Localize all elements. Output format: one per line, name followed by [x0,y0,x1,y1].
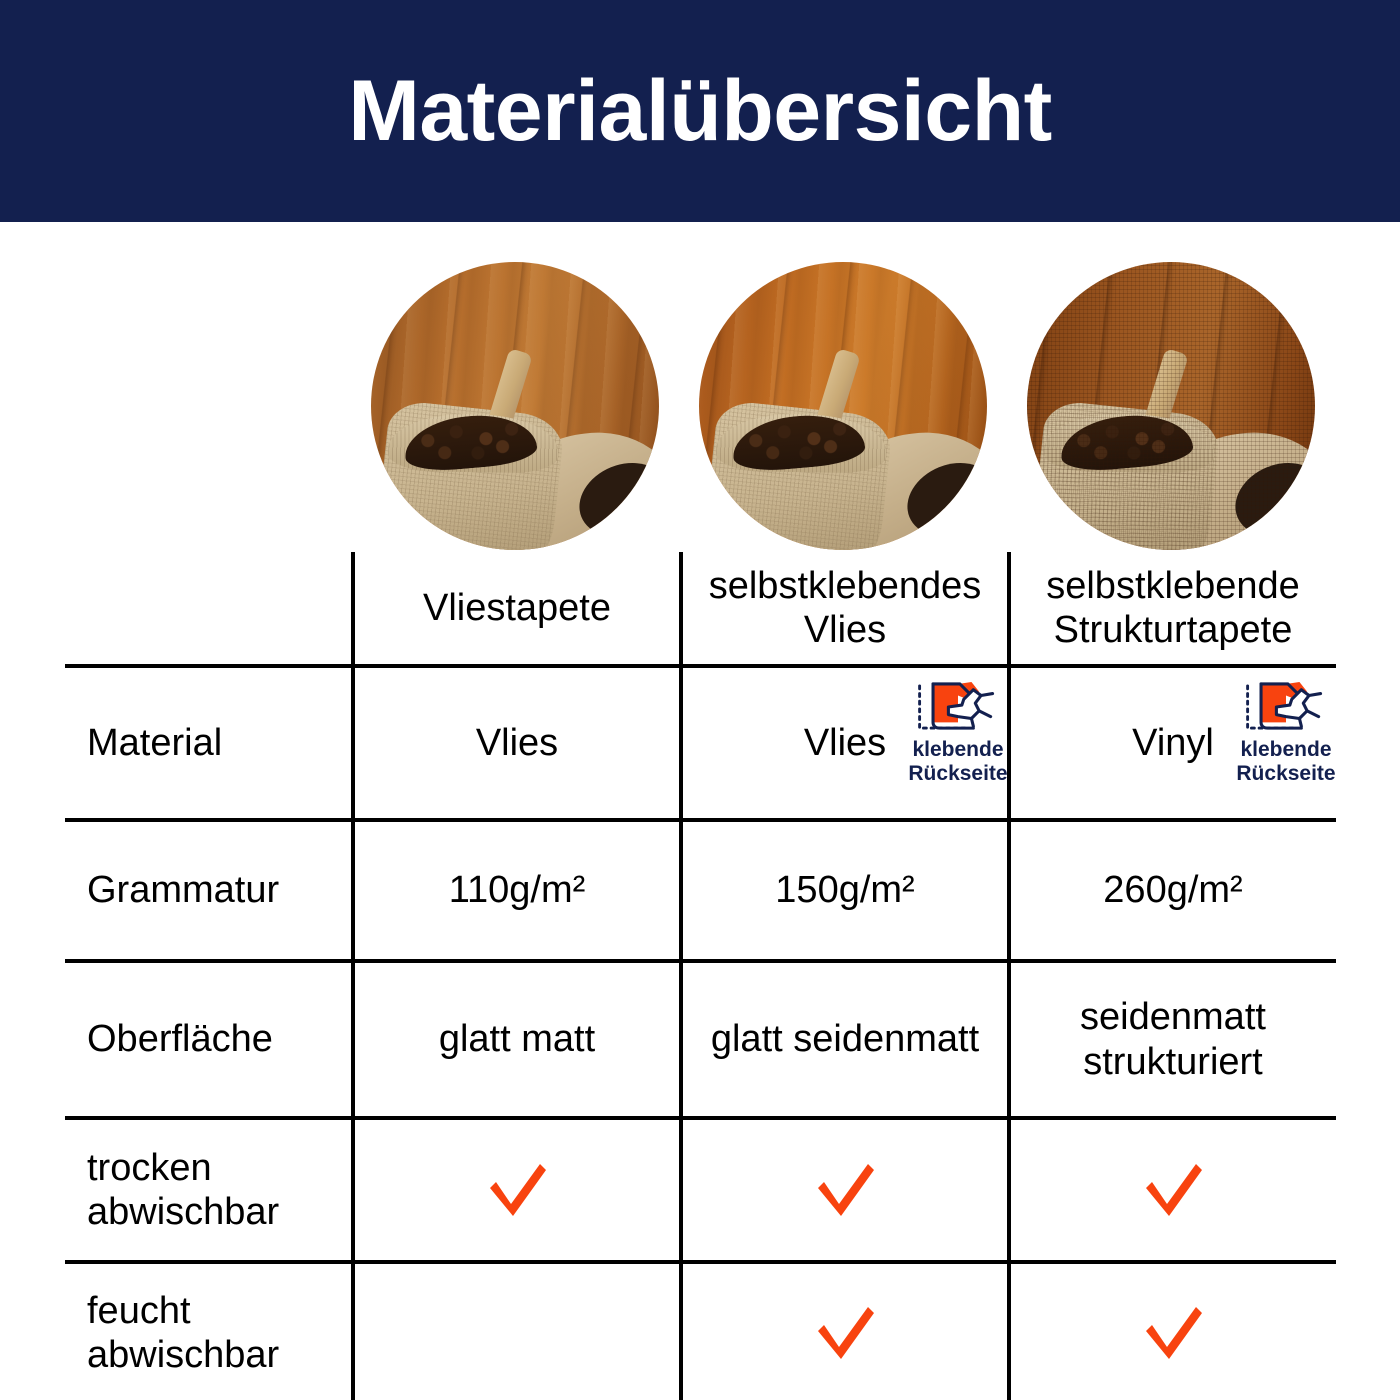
cell-trocken-3 [1007,1120,1335,1260]
sample-cell-1 [351,262,679,552]
material-overview-page: Materialübersicht [0,0,1400,1400]
burlap-sack-icon [372,399,565,550]
sample-vliestapete [371,262,659,550]
burlap-sack-icon [700,399,893,550]
peel-corner-hand-icon [910,678,1006,736]
peel-corner-hand-icon [1238,678,1334,736]
table-row: Oberfläche glatt matt glatt seidenmatt s… [65,959,1336,1116]
column-header-2: selbstklebendes Vlies [679,552,1007,664]
cell-oberflaeche-2: glatt seidenmatt [679,963,1007,1116]
coffee-beans-icon [730,410,866,473]
column-header-1-label: Vliestapete [423,586,611,630]
material-comparison-table: Vliestapete selbstklebendes Vlies selbst… [65,552,1336,1382]
cell-trocken-1 [351,1120,679,1260]
check-icon [1142,1162,1204,1218]
adhesive-backing-badge-text: klebende Rückseite [1236,738,1335,785]
cell-material-3: Vinyl [1007,668,1335,818]
sample-cell-2 [679,262,1007,552]
cell-oberflaeche-3-value: seidenmatt strukturiert [1019,995,1327,1083]
badge-line-1: klebende [912,738,1003,761]
check-icon [486,1162,548,1218]
cell-oberflaeche-1-value: glatt matt [439,1017,595,1061]
cell-grammatur-1: 110g/m² [351,822,679,959]
sample-strukturtapete [1027,262,1315,550]
table-corner-cell [65,552,351,664]
cell-grammatur-2-value: 150g/m² [775,868,914,912]
table-header-row: Vliestapete selbstklebendes Vlies selbst… [65,552,1336,664]
coffee-beans-icon [402,410,538,473]
adhesive-backing-badge-text: klebende Rückseite [908,738,1007,785]
cell-trocken-2 [679,1120,1007,1260]
cell-material-1: Vlies [351,668,679,818]
page-title: Materialübersicht [348,68,1052,154]
row-label-oberflaeche: Oberfläche [65,963,351,1116]
sack-cuff-icon [388,413,559,474]
badge-line-2: Rückseite [908,762,1007,785]
cell-grammatur-3-value: 260g/m² [1103,868,1242,912]
cell-feucht-3 [1007,1264,1335,1400]
row-label-grammatur: Grammatur [65,822,351,959]
table-row: Material Vlies Vlies [65,664,1336,818]
cell-material-3-value: Vinyl [1132,721,1214,765]
table-row: Grammatur 110g/m² 150g/m² 260g/m² [65,818,1336,959]
badge-line-2: Rückseite [1236,762,1335,785]
column-header-3: selbstklebende Strukturtapete [1007,552,1335,664]
cell-oberflaeche-2-value: glatt seidenmatt [711,1017,979,1061]
cell-material-2: Vlies [679,668,1007,818]
page-header: Materialübersicht [0,0,1400,222]
column-header-2-label: selbstklebendes Vlies [691,564,999,652]
cell-feucht-2 [679,1264,1007,1400]
sack-cuff-icon [716,413,887,474]
cell-grammatur-2: 150g/m² [679,822,1007,959]
cell-material-1-value: Vlies [476,721,558,765]
cell-oberflaeche-3: seidenmatt strukturiert [1007,963,1335,1116]
cell-feucht-1 [351,1264,679,1400]
adhesive-backing-badge: klebende Rückseite [1223,678,1349,785]
cell-grammatur-3: 260g/m² [1007,822,1335,959]
row-label-trocken-abwischbar: trocken abwischbar [65,1120,351,1260]
sample-selbstklebendes-vlies [699,262,987,550]
check-icon [814,1162,876,1218]
row-label-material: Material [65,668,351,818]
cell-grammatur-1-value: 110g/m² [449,868,586,912]
cell-oberflaeche-1: glatt matt [351,963,679,1116]
sample-cell-3 [1007,262,1335,552]
cell-material-2-value: Vlies [804,721,886,765]
sample-images-row [351,262,1335,552]
column-header-3-label: selbstklebende Strukturtapete [1019,564,1327,652]
table-row: trocken abwischbar [65,1116,1336,1260]
check-icon [814,1305,876,1361]
structure-texture-overlay-icon [1027,262,1315,550]
adhesive-backing-badge: klebende Rückseite [895,678,1021,785]
row-label-feucht-abwischbar: feucht abwischbar [65,1264,351,1400]
table-row: feucht abwischbar [65,1260,1336,1400]
check-icon [1142,1305,1204,1361]
badge-line-1: klebende [1240,738,1331,761]
column-header-1: Vliestapete [351,552,679,664]
